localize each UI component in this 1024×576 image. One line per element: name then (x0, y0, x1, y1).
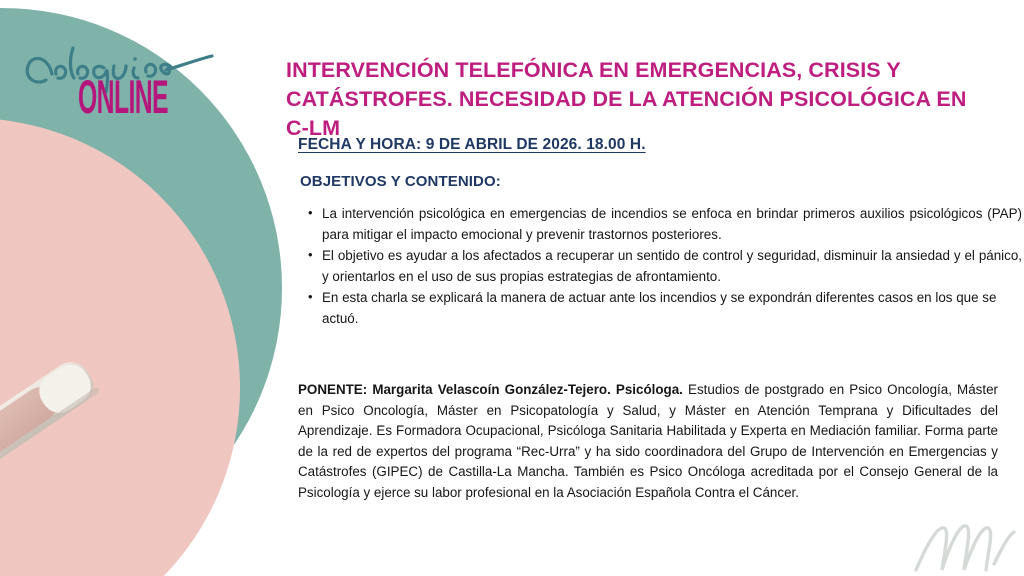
page-title: INTERVENCIÓN TELEFÓNICA EN EMERGENCIAS, … (286, 56, 992, 143)
coloquios-online-logo: ONLINE (16, 26, 236, 118)
speaker-label: PONENTE: Margarita Velascoín González-Te… (298, 382, 683, 397)
logo-online-word: ONLINE (78, 74, 168, 121)
list-item: La intervención psicológica en emergenci… (322, 204, 1022, 245)
dateline: FECHA Y HORA: 9 DE ABRIL DE 2026. 18.00 … (298, 136, 646, 154)
hand-holding-smartphone-photo (0, 118, 240, 576)
slide-canvas: ONLINE INTERVENCIÓN TELEFÓNICA EN EMERGE… (0, 0, 1024, 576)
objectives-list: La intervención psicológica en emergenci… (298, 204, 1022, 330)
speaker-paragraph: PONENTE: Margarita Velascoín González-Te… (298, 380, 998, 503)
list-item: En esta charla se explicará la manera de… (322, 288, 1022, 329)
pink-circle-shape (0, 118, 240, 576)
content-column: INTERVENCIÓN TELEFÓNICA EN EMERGENCIAS, … (286, 0, 992, 576)
objectives-heading: OBJETIVOS Y CONTENIDO: (300, 173, 501, 190)
speaker-bio: Estudios de postgrado en Psico Oncología… (298, 382, 998, 500)
list-item: El objetivo es ayudar a los afectados a … (322, 246, 1022, 287)
